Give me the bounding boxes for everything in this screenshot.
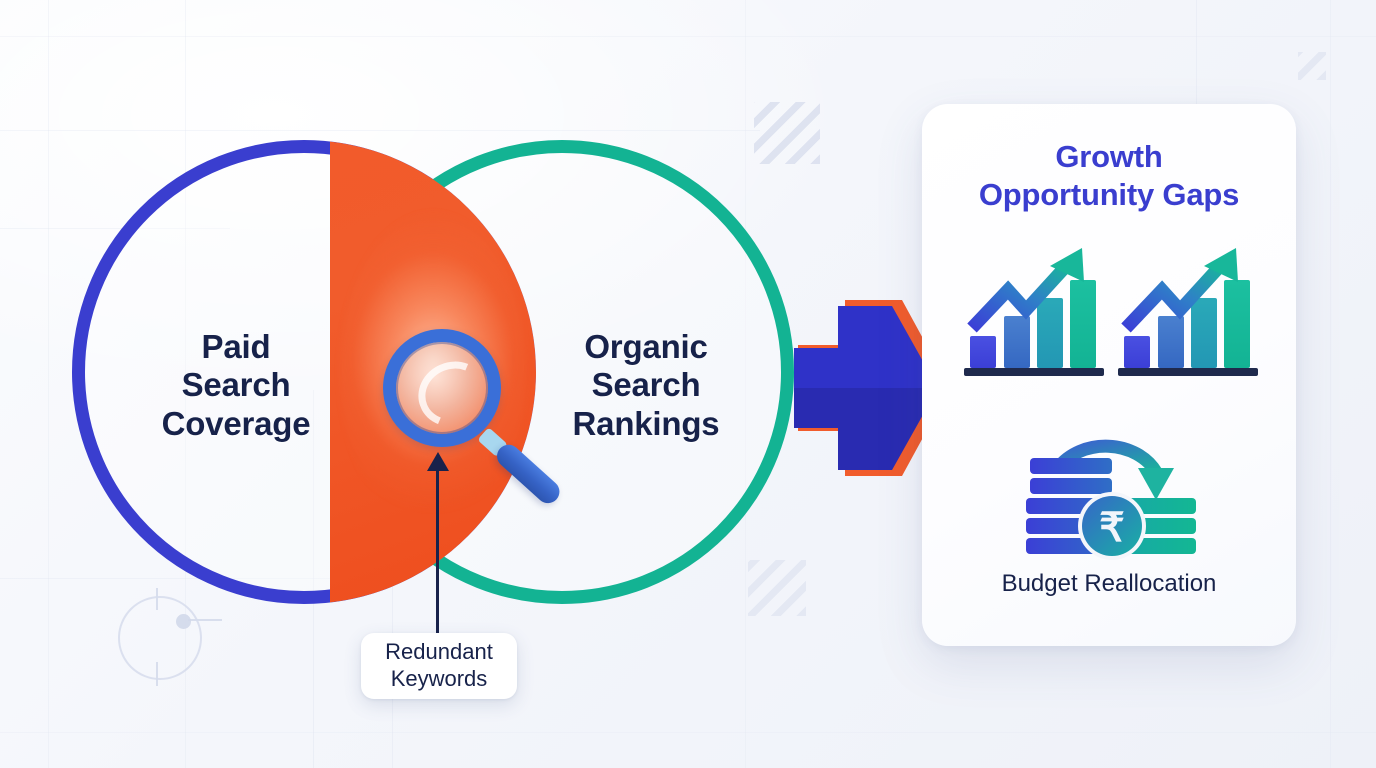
coin-left-1	[1030, 458, 1112, 474]
growth-bar-chart-icon-2	[1118, 244, 1258, 379]
hatch-square-decoration	[1298, 52, 1326, 80]
rupee-symbol: ₹	[1099, 506, 1124, 550]
card-title-line: Opportunity Gaps	[922, 176, 1296, 214]
reallocation-arrow-head	[1138, 468, 1174, 500]
budget-reallocation-icon: ₹	[1020, 416, 1200, 564]
bar-3	[1191, 298, 1217, 368]
growth-opportunity-card[interactable]: Growth Opportunity Gaps	[922, 104, 1296, 646]
chart-baseline	[1118, 368, 1258, 376]
card-title-line: Growth	[922, 138, 1296, 176]
bar-4	[1224, 280, 1250, 368]
callout-connector-line	[436, 470, 439, 635]
bar-1	[970, 336, 996, 368]
callout-label-box[interactable]: Redundant Keywords	[361, 633, 517, 699]
redundant-keywords-callout[interactable]: Redundant Keywords	[0, 0, 560, 768]
callout-label-line: Keywords	[385, 666, 493, 693]
bar-2	[1004, 316, 1030, 368]
bar-2	[1158, 316, 1184, 368]
bar-3	[1037, 298, 1063, 368]
diagram-canvas: Paid Search Coverage Organic Search Rank…	[0, 0, 1376, 768]
grid-line-vertical	[1330, 0, 1331, 768]
bar-4	[1070, 280, 1096, 368]
bar-1	[1124, 336, 1150, 368]
card-title: Growth Opportunity Gaps	[922, 138, 1296, 214]
coin-left-2	[1030, 478, 1112, 494]
callout-arrow-head	[427, 452, 449, 471]
card-caption-budget-reallocation: Budget Reallocation	[922, 570, 1296, 598]
growth-bar-chart-icon-1	[964, 244, 1104, 379]
callout-label-line: Redundant	[385, 639, 493, 666]
chart-baseline	[964, 368, 1104, 376]
